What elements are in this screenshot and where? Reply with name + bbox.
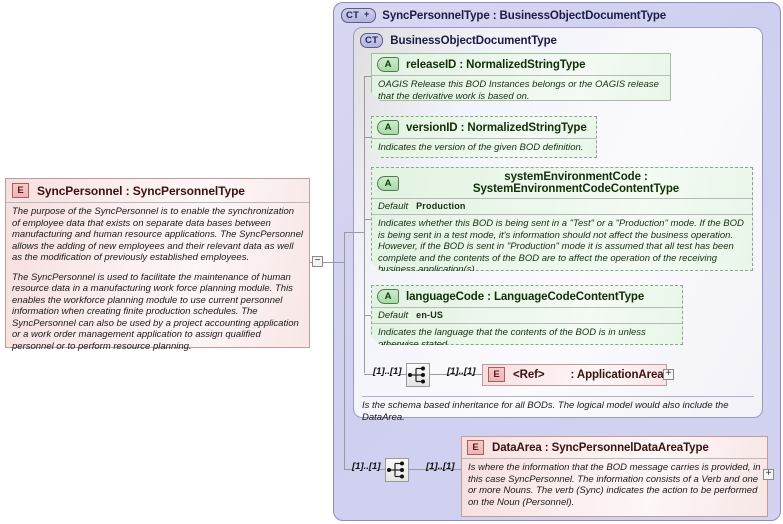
attribute-versionid[interactable]: A versionID : NormalizedStringType Indic… [371, 116, 597, 158]
attribute-releaseid[interactable]: A releaseID : NormalizedStringType OAGIS… [371, 53, 671, 101]
attribute-languagecode-title: languageCode : LanguageCodeContentType [406, 291, 644, 303]
element-dataarea-title: DataArea : SyncPersonnelDataAreaType [492, 442, 709, 454]
connector-line [364, 76, 365, 373]
element-dataarea-header: E DataArea : SyncPersonnelDataAreaType [462, 437, 767, 458]
attribute-icon: A [377, 120, 399, 135]
element-ref-label: <Ref> [513, 369, 544, 381]
attribute-languagecode-default: Default en-US [372, 307, 682, 323]
collapse-syncpersonnel-button[interactable]: − [312, 256, 323, 267]
connector-line [364, 315, 372, 316]
attribute-versionid-header: A versionID : NormalizedStringType [372, 117, 596, 138]
complex-type-syncpersonneltype-header: CT+ SyncPersonnelType : BusinessObjectDo… [334, 3, 780, 26]
element-icon: E [488, 367, 505, 382]
expand-dataarea-button[interactable]: + [763, 469, 774, 480]
attribute-languagecode[interactable]: A languageCode : LanguageCodeContentType… [371, 285, 683, 345]
attribute-versionid-title: versionID : NormalizedStringType [406, 122, 587, 134]
attribute-systemenvironmentcode-default: Default Production [372, 198, 752, 214]
complex-type-syncpersonneltype-title: SyncPersonnelType : BusinessObjectDocume… [382, 10, 666, 22]
default-label: Default [378, 310, 408, 321]
cardinality-applicationarea-right: [1]..[1] [447, 366, 476, 377]
attribute-versionid-documentation: Indicates the version of the given BOD d… [372, 138, 596, 158]
connector-line [364, 76, 372, 77]
attribute-releaseid-title: releaseID : NormalizedStringType [406, 59, 585, 71]
element-dataarea[interactable]: E DataArea : SyncPersonnelDataAreaType I… [461, 436, 768, 517]
sequence-glyph [407, 364, 429, 386]
element-syncpersonnel-title: SyncPersonnel : SyncPersonnelType [37, 184, 245, 198]
element-syncpersonnel-header: E SyncPersonnel : SyncPersonnelType [6, 179, 309, 202]
attribute-systemenvironmentcode-header: A systemEnvironmentCode : SystemEnvironm… [372, 168, 752, 198]
element-syncpersonnel-documentation: The purpose of the SyncPersonnel is to e… [6, 202, 309, 356]
sequence-glyph [386, 459, 408, 481]
element-syncpersonnel-doc-paragraph-1: The purpose of the SyncPersonnel is to e… [12, 206, 303, 264]
element-dataarea-documentation: Is where the information that the BOD me… [462, 458, 767, 512]
default-value: Production [416, 201, 466, 211]
connector-line [344, 232, 345, 470]
element-ref-applicationarea-header: E <Ref> : ApplicationArea [483, 365, 666, 384]
sequence-compositor-icon[interactable] [406, 363, 430, 387]
complex-type-icon: CT [360, 33, 383, 48]
attribute-icon: A [377, 289, 399, 304]
default-label: Default [378, 201, 408, 212]
connector-line [344, 232, 364, 233]
cardinality-dataarea-left: [1]..[1] [352, 461, 381, 472]
expand-applicationarea-button[interactable]: + [663, 369, 674, 380]
connector-line [323, 262, 344, 263]
attribute-icon: A [377, 57, 399, 72]
xsd-diagram-canvas: CT+ SyncPersonnelType : BusinessObjectDo… [0, 0, 783, 524]
plus-icon[interactable]: + [362, 11, 371, 20]
complex-type-businessobjectdocumenttype-title: BusinessObjectDocumentType [390, 35, 557, 47]
connector-line [344, 469, 352, 470]
attribute-releaseid-header: A releaseID : NormalizedStringType [372, 54, 670, 75]
default-value: en-US [416, 310, 443, 320]
element-ref-applicationarea-type: : ApplicationArea [570, 369, 663, 381]
element-syncpersonnel[interactable]: E SyncPersonnel : SyncPersonnelType The … [5, 178, 310, 348]
element-icon: E [12, 183, 29, 198]
connector-line [364, 219, 372, 220]
complex-type-icon: CT+ [341, 8, 376, 23]
attribute-systemenvironmentcode[interactable]: A systemEnvironmentCode : SystemEnvironm… [371, 167, 753, 271]
attribute-systemenvironmentcode-title: systemEnvironmentCode : SystemEnvironmen… [406, 171, 746, 195]
cardinality-applicationarea-left: [1]..[1] [373, 366, 402, 377]
complex-type-businessobjectdocumenttype-header: CT BusinessObjectDocumentType [354, 28, 762, 51]
attribute-systemenvironmentcode-documentation: Indicates whether this BOD is being sent… [372, 214, 752, 280]
complex-type-businessobjectdocumenttype-note: Is the schema based inheritance for all … [362, 396, 754, 423]
sequence-compositor-icon[interactable] [385, 458, 409, 482]
connector-line [364, 137, 372, 138]
element-ref-applicationarea[interactable]: E <Ref> : ApplicationArea [482, 364, 667, 386]
connector-line [364, 374, 373, 375]
attribute-languagecode-header: A languageCode : LanguageCodeContentType [372, 286, 682, 307]
cardinality-dataarea-right: [1]..[1] [426, 461, 455, 472]
element-syncpersonnel-doc-paragraph-2: The SyncPersonnel is used to facilitate … [12, 272, 303, 353]
element-icon: E [467, 440, 484, 455]
attribute-icon: A [377, 176, 399, 191]
